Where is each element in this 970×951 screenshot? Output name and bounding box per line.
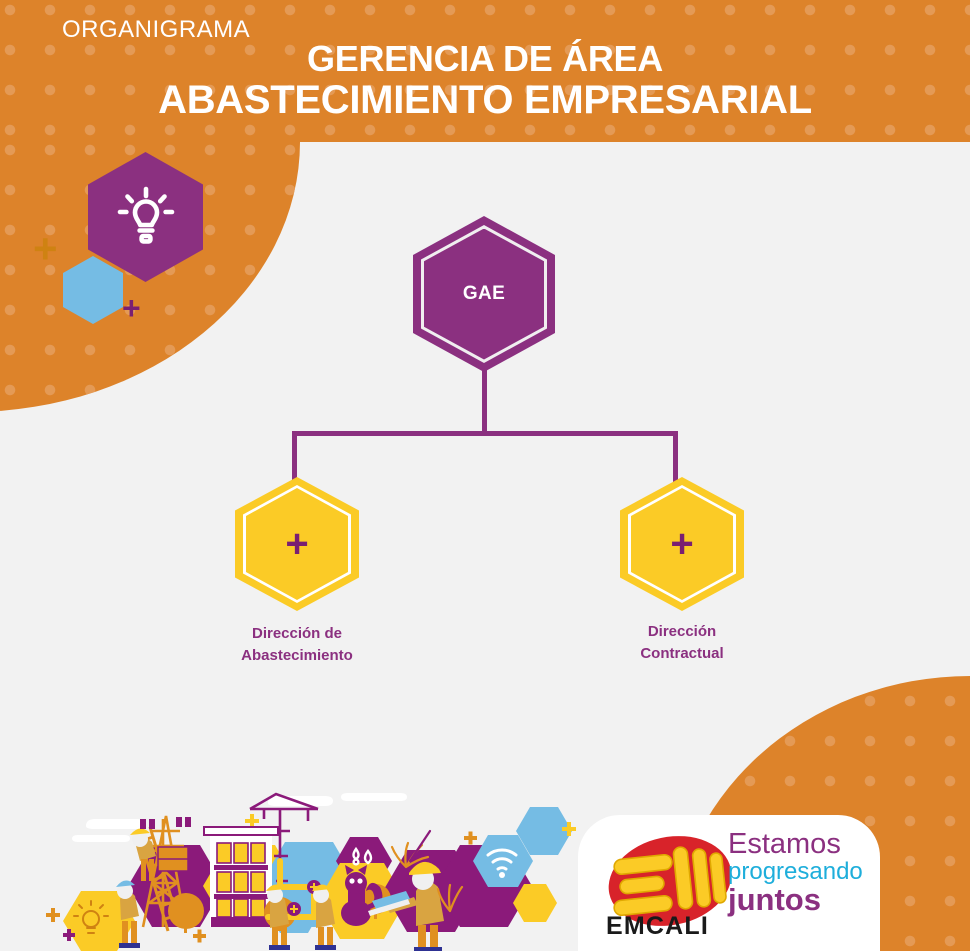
emcali-tagline: Estamos progresando juntos [728,830,863,916]
tagline-line-1: Estamos [728,830,863,860]
node-gae-label: GAE [463,283,505,305]
emcali-logo-panel: EMCALI Estamos progresando juntos [578,815,880,951]
connector-horizontal-bus [292,431,678,436]
organigrama-poster: ORGANIGRAMA GERENCIA DE ÁREA ABASTECIMIE… [0,0,970,951]
connector-root-stem [482,368,487,434]
tagline-line-3: juntos [728,884,863,916]
node-left-caption: Dirección de Abastecimiento [177,623,417,667]
node-left-caption-line-1: Dirección de [177,623,417,645]
node-right-badge-wrap: + [620,477,744,611]
expand-plus-icon[interactable]: + [285,524,308,564]
node-right-caption-line-1: Dirección [562,621,802,643]
node-right-caption-line-2: Contractual [562,643,802,665]
tagline-line-2: progresando [728,860,863,884]
node-right-caption: Dirección Contractual [562,621,802,665]
public-services-workers-illustration [18,791,578,951]
node-left-badge-wrap: + [235,477,359,611]
expand-plus-icon[interactable]: + [670,524,693,564]
node-gae-label-wrap: GAE [413,216,555,372]
node-left-caption-line-2: Abastecimiento [177,645,417,667]
emcali-wordmark: EMCALI [606,912,709,941]
